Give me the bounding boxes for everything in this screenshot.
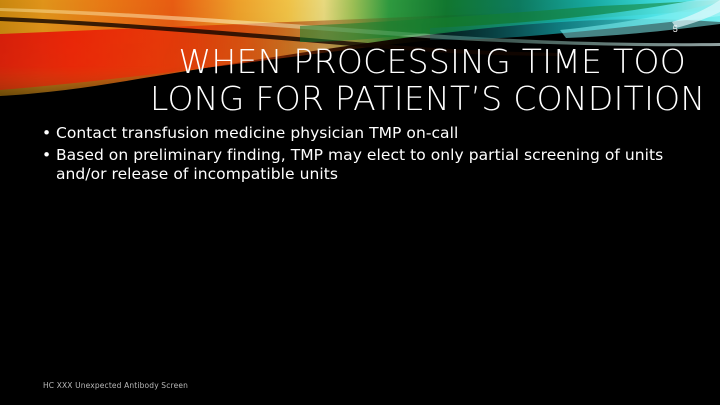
swoosh-cyan-highlight bbox=[560, 2, 720, 38]
swoosh-cyan-band bbox=[430, 0, 720, 40]
bullet-marker-icon: • bbox=[42, 146, 51, 165]
slide-title-line-2: LONG FOR PATIENT’S CONDITION bbox=[150, 81, 686, 118]
swoosh-cyan-tip bbox=[672, 0, 720, 28]
list-item: • Contact transfusion medicine physician… bbox=[38, 124, 694, 143]
slide-title-line-1: WHEN PROCESSING TIME TOO bbox=[150, 44, 686, 81]
slide-title: WHEN PROCESSING TIME TOO LONG FOR PATIEN… bbox=[150, 44, 686, 118]
slide-footer: HC XXX Unexpected Antibody Screen bbox=[43, 382, 188, 390]
swoosh-highlight-streak bbox=[0, 8, 720, 46]
swoosh-green-wedge bbox=[300, 0, 720, 42]
slide-body-bullet-list: • Contact transfusion medicine physician… bbox=[38, 124, 694, 187]
bullet-text: Based on preliminary finding, TMP may el… bbox=[56, 146, 663, 183]
list-item: • Based on preliminary finding, TMP may … bbox=[38, 146, 694, 184]
bullet-marker-icon: • bbox=[42, 124, 51, 143]
page-number: 5 bbox=[673, 25, 678, 34]
presentation-slide: 5 WHEN PROCESSING TIME TOO LONG FOR PATI… bbox=[0, 0, 720, 405]
bullet-text: Contact transfusion medicine physician T… bbox=[56, 124, 458, 142]
